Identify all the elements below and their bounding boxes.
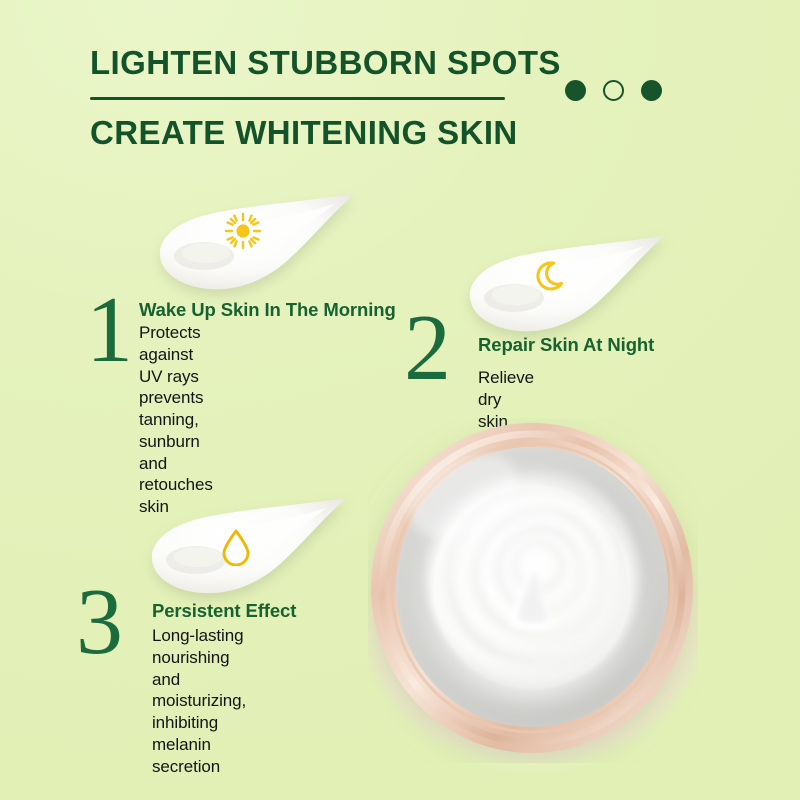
step-heading-1: Wake Up Skin In The Morning <box>139 299 396 321</box>
pager-dot-1[interactable] <box>565 80 586 101</box>
step-number-1: 1 <box>86 288 133 373</box>
product-cream-jar <box>368 418 698 763</box>
droplet-icon <box>216 526 256 566</box>
sun-icon <box>223 211 263 251</box>
pager-dots[interactable] <box>565 80 662 101</box>
headline-primary: LIGHTEN STUBBORN SPOTS <box>90 44 561 82</box>
headline-secondary: CREATE WHITENING SKIN <box>90 114 518 152</box>
step-body-1: Protects against UV rays prevents tannin… <box>139 322 213 518</box>
pager-dot-2[interactable] <box>603 80 624 101</box>
pager-dot-3[interactable] <box>641 80 662 101</box>
step-heading-3: Persistent Effect <box>152 600 296 622</box>
step-heading-2: Repair Skin At Night <box>478 334 654 356</box>
title-divider <box>90 97 505 100</box>
step-body-3: Long-lasting nourishing and moisturizing… <box>152 625 246 777</box>
moon-icon <box>531 257 571 297</box>
poster-canvas: LIGHTEN STUBBORN SPOTS CREATE WHITENING … <box>0 0 800 800</box>
step-number-2: 2 <box>404 306 451 391</box>
step-number-3: 3 <box>76 580 123 665</box>
